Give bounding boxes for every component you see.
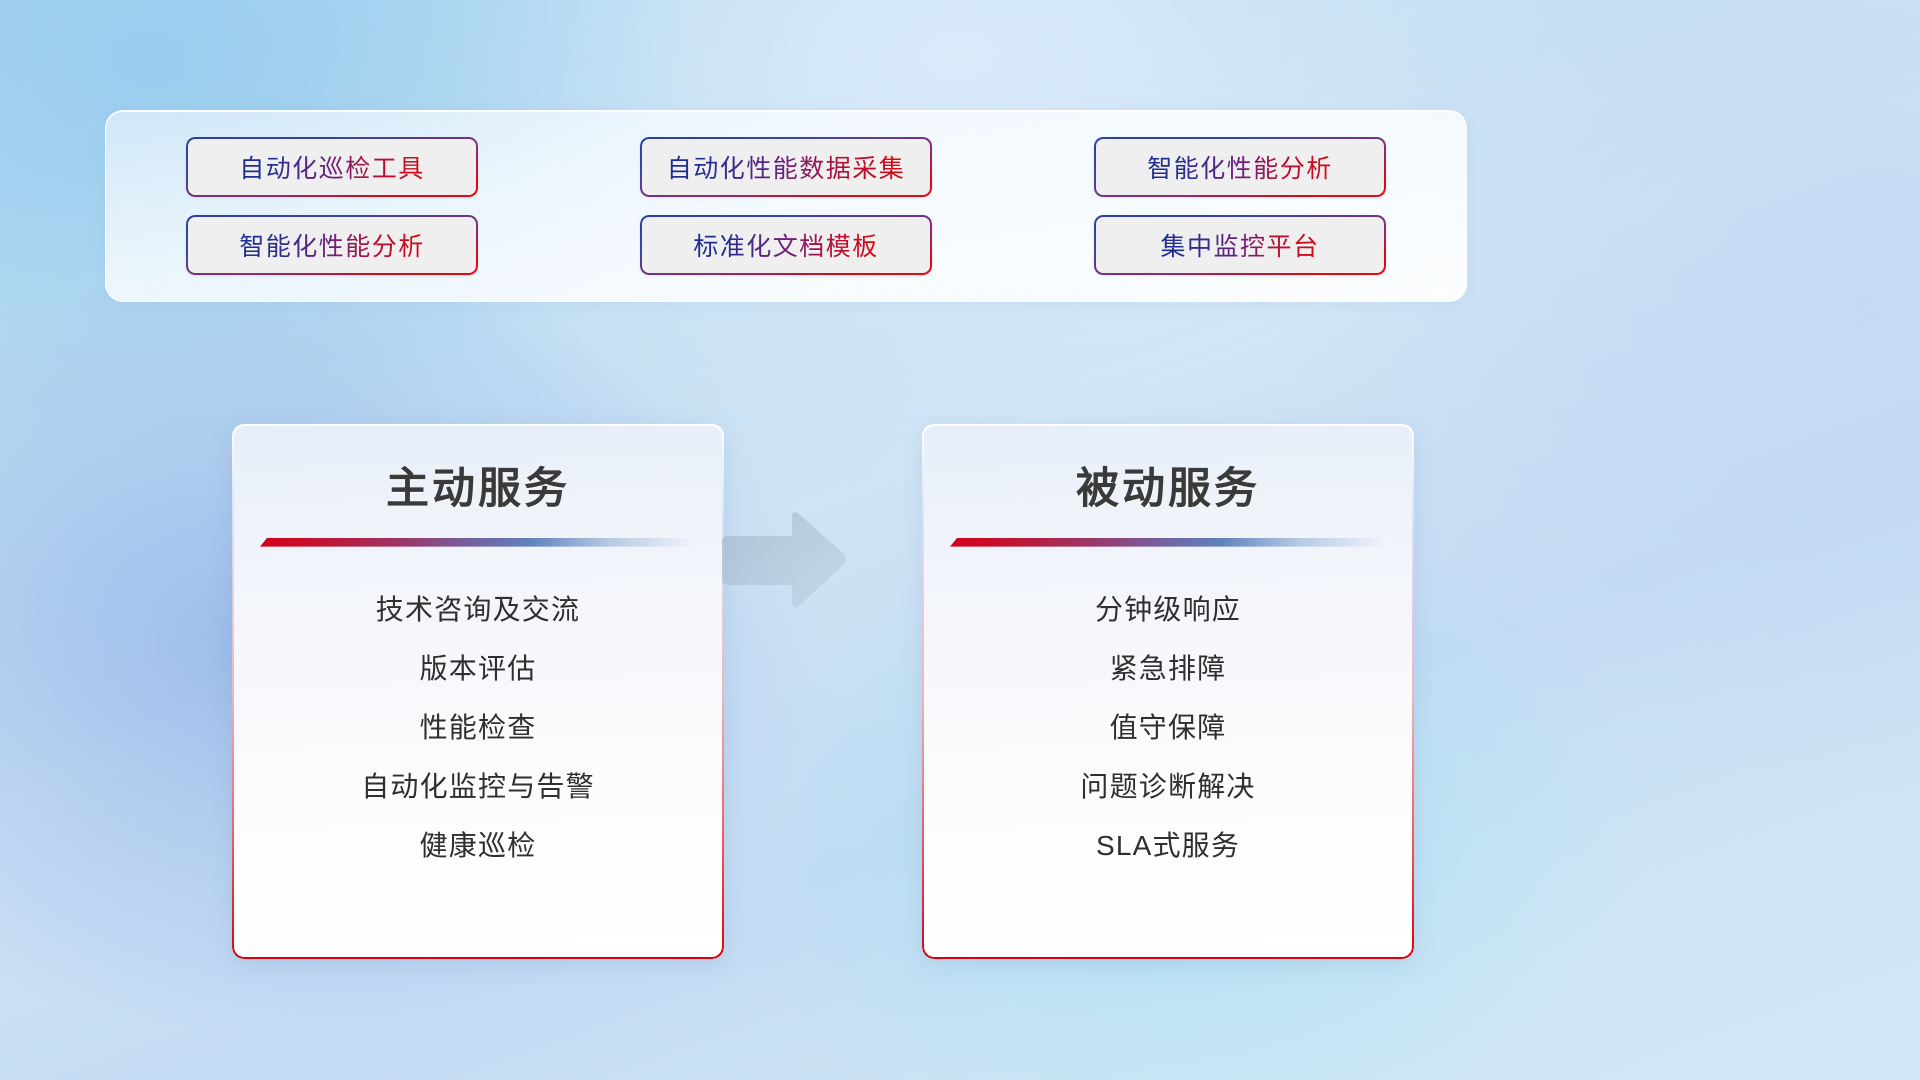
list-item: 性能检查 — [232, 698, 724, 757]
list-item: 值守保障 — [922, 698, 1414, 757]
capability-pill-label: 标准化文档模板 — [693, 227, 879, 263]
capability-pill[interactable]: 集中监控平台 — [1094, 215, 1386, 275]
capabilities-row-1: 自动化巡检工具 自动化性能数据采集 智能化性能分析 — [186, 137, 1386, 197]
list-item: 技术咨询及交流 — [232, 580, 724, 639]
capability-pill[interactable]: 自动化性能数据采集 — [640, 137, 932, 197]
card-title-divider — [232, 538, 724, 552]
card-title-divider — [922, 538, 1414, 552]
card-title: 主动服务 — [232, 454, 724, 516]
list-item: 版本评估 — [232, 639, 724, 698]
gradient-rule — [950, 538, 1386, 552]
list-item: SLA式服务 — [922, 816, 1414, 875]
capability-pill[interactable]: 智能化性能分析 — [186, 215, 478, 275]
gradient-rule — [260, 538, 696, 552]
service-card-reactive: 被动服务 分钟级响应 紧急排障 值守保障 问题诊断解决 SLA式服务 — [922, 424, 1414, 959]
list-item: 分钟级响应 — [922, 580, 1414, 639]
arrow-shape — [722, 512, 846, 608]
slide-canvas: 自动化巡检工具 自动化性能数据采集 智能化性能分析 智能化性能分析 标准化文档模… — [0, 0, 1920, 1080]
card-item-list: 技术咨询及交流 版本评估 性能检查 自动化监控与告警 健康巡检 — [232, 580, 724, 875]
right-arrow-icon — [716, 508, 850, 613]
capability-pill-label: 自动化性能数据采集 — [667, 149, 906, 185]
card-item-list: 分钟级响应 紧急排障 值守保障 问题诊断解决 SLA式服务 — [922, 580, 1414, 875]
card-title: 被动服务 — [922, 454, 1414, 516]
service-card-proactive: 主动服务 技术咨询及交流 版本评估 性能检查 自动化监控与告警 健康巡检 — [232, 424, 724, 959]
capabilities-panel: 自动化巡检工具 自动化性能数据采集 智能化性能分析 智能化性能分析 标准化文档模… — [105, 110, 1467, 302]
capability-pill[interactable]: 自动化巡检工具 — [186, 137, 478, 197]
capability-pill-label: 智能化性能分析 — [1147, 149, 1333, 185]
list-item: 自动化监控与告警 — [232, 757, 724, 816]
capability-pill-label: 集中监控平台 — [1160, 227, 1319, 263]
capabilities-row-2: 智能化性能分析 标准化文档模板 集中监控平台 — [186, 215, 1386, 275]
list-item: 紧急排障 — [922, 639, 1414, 698]
list-item: 健康巡检 — [232, 816, 724, 875]
capability-pill-label: 智能化性能分析 — [239, 227, 425, 263]
list-item: 问题诊断解决 — [922, 757, 1414, 816]
capability-pill[interactable]: 智能化性能分析 — [1094, 137, 1386, 197]
capability-pill-label: 自动化巡检工具 — [239, 149, 425, 185]
capability-pill[interactable]: 标准化文档模板 — [640, 215, 932, 275]
